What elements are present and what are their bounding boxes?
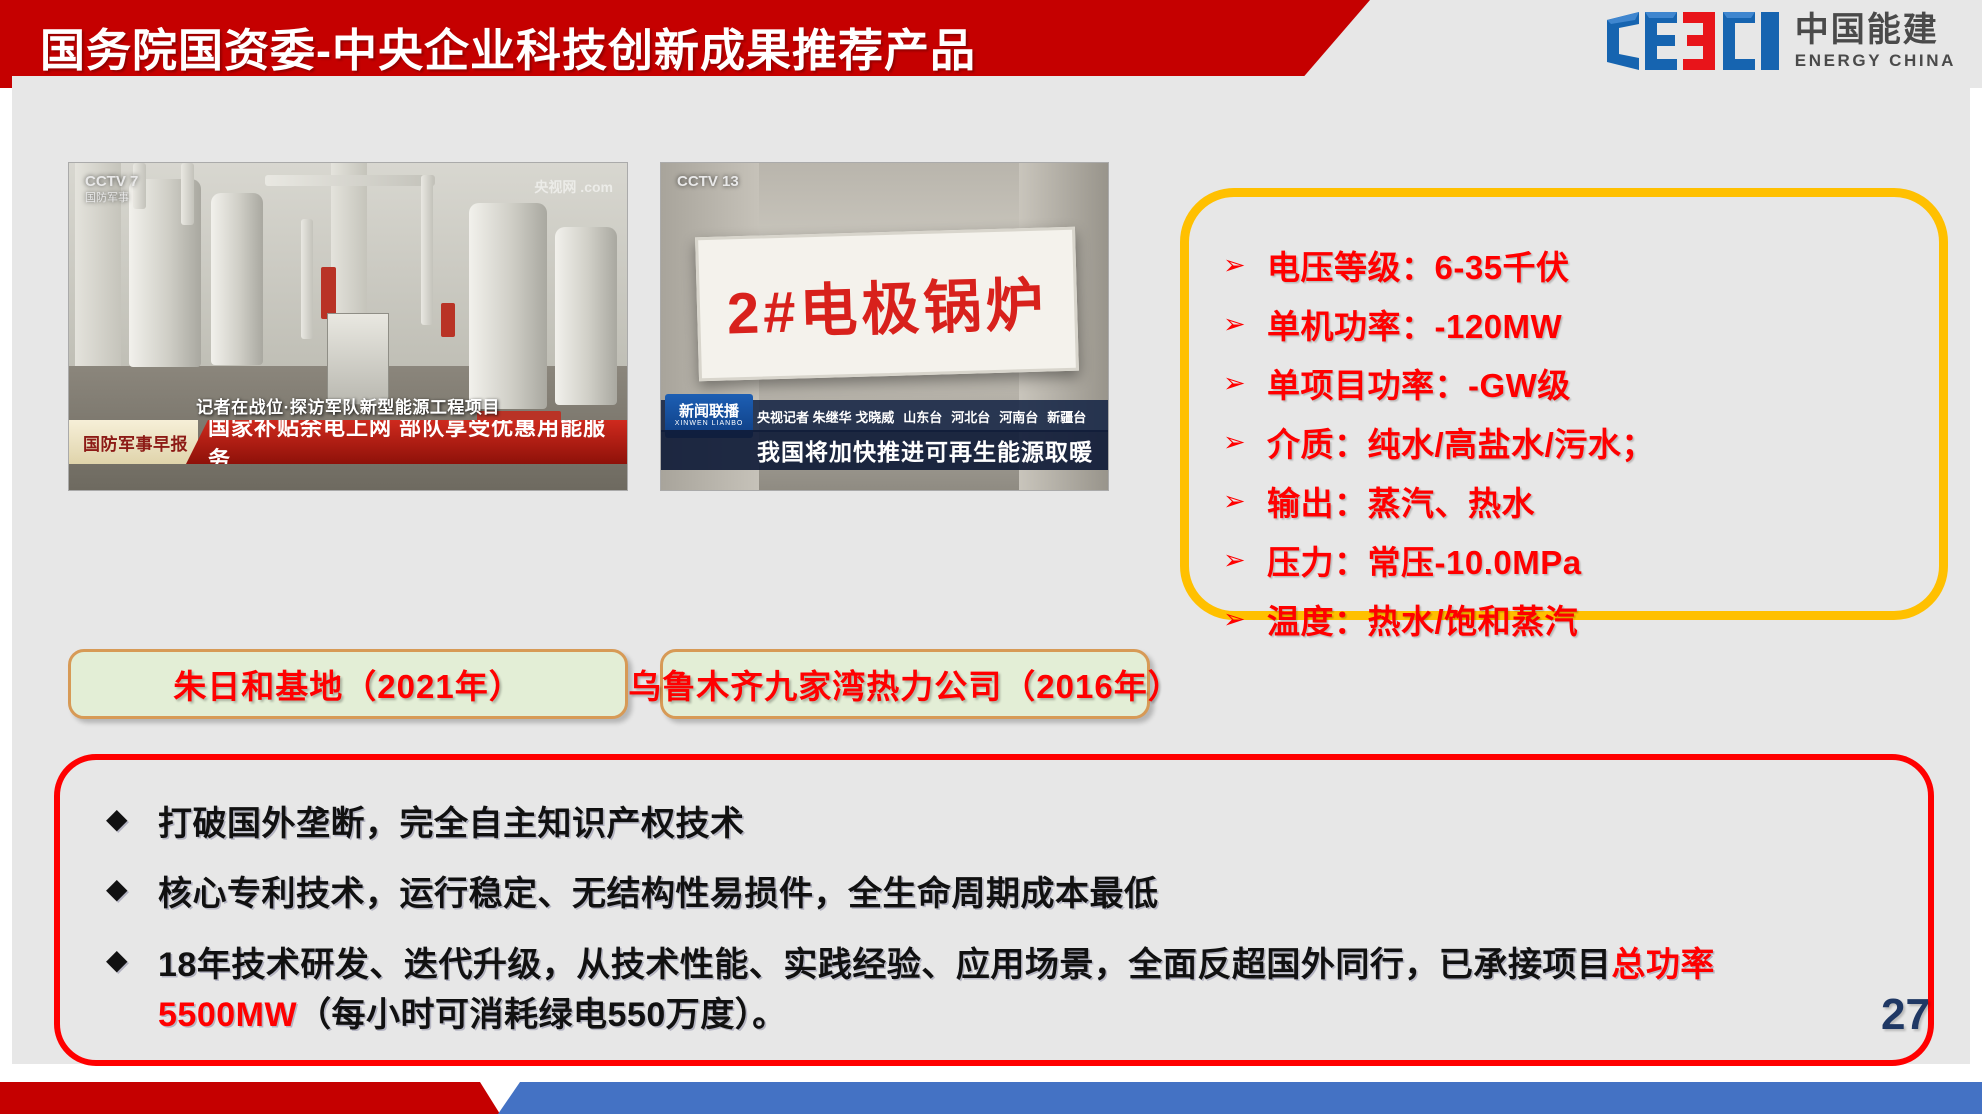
spec-item-temperature: ➢ 温度：热水/饱和蒸汽 bbox=[1223, 595, 1939, 643]
logo-text-block: 中国能建 ENERGY CHINA bbox=[1795, 13, 1956, 69]
photo1-pipe-3 bbox=[421, 175, 433, 325]
caption-text-2: 乌鲁木齐九家湾热力公司（2016年） bbox=[628, 660, 1181, 708]
photo1-tank-c bbox=[469, 203, 547, 409]
photo1-pipe-horizontal bbox=[265, 175, 435, 186]
spec-text-temperature: 温度：热水/饱和蒸汽 bbox=[1267, 595, 1578, 643]
spec-item-project-power: ➢ 单项目功率：-GW级 bbox=[1223, 359, 1939, 407]
bullet-text-2: 核心专利技术，运行稳定、无结构性易损件，全生命周期成本最低 bbox=[158, 870, 1159, 918]
bullet-1-plain: 打破国外垄断，完全自主知识产权技术 bbox=[158, 805, 745, 843]
footer-blue-segment bbox=[498, 1082, 1982, 1114]
slide-header: 国务院国资委-中央企业科技创新成果推荐产品 中国能建 ENERGY CHINA bbox=[0, 0, 1982, 88]
photo1-valve-b bbox=[441, 303, 455, 337]
company-logo: 中国能建 ENERGY CHINA bbox=[1605, 10, 1956, 72]
photo2-credit-1: 山东台 bbox=[903, 407, 942, 426]
diamond-bullet-icon: ◆ bbox=[106, 941, 158, 979]
photo2-credit-3: 河南台 bbox=[999, 407, 1038, 426]
caption-text-1: 朱日和基地（2021年） bbox=[173, 660, 522, 708]
spec-item-pressure: ➢ 压力：常压-10.0MPa bbox=[1223, 536, 1939, 584]
diamond-bullet-icon: ◆ bbox=[106, 800, 158, 838]
spec-item-voltage: ➢ 电压等级：6-35千伏 bbox=[1223, 241, 1939, 289]
logo-english-name: ENERGY CHINA bbox=[1795, 52, 1956, 69]
bullet-3-line2-plain: （每小时可消耗绿电550万度）。 bbox=[297, 996, 787, 1034]
slide: 国务院国资委-中央企业科技创新成果推荐产品 中国能建 ENERGY CHINA bbox=[0, 0, 1982, 1114]
bullet-text-3: 18年技术研发、迭代升级，从技术性能、实践经验、应用场景，全面反超国外同行，已承… bbox=[158, 941, 1715, 1040]
photo1-control-cabinet bbox=[327, 313, 389, 405]
bullet-3-plain: 18年技术研发、迭代升级，从技术性能、实践经验、应用场景，全面反超国外同行，已承… bbox=[158, 946, 1611, 984]
photo2-sign-text: 2#电极锅炉 bbox=[725, 257, 1048, 350]
photo1-program-tag: 国防军事早报 bbox=[69, 420, 198, 464]
page-number: 27 bbox=[1881, 990, 1930, 1040]
photo-cctv13-electrode-boiler: 2#电极锅炉 CCTV 13 央视记者 朱继华 戈晓威 山东台 河北台 河南台 … bbox=[660, 162, 1109, 491]
photo2-station-name-en: XINWEN LIANBO bbox=[675, 420, 744, 427]
spec-text-pressure: 压力：常压-10.0MPa bbox=[1267, 536, 1582, 584]
photo2-station-name: 新闻联播 bbox=[679, 404, 739, 420]
arrow-bullet-icon: ➢ bbox=[1223, 547, 1267, 574]
bullet-2-plain: 核心专利技术，运行稳定、无结构性易损件，全生命周期成本最低 bbox=[158, 875, 1159, 913]
key-points-box: ◆ 打破国外垄断，完全自主知识产权技术 ◆ 核心专利技术，运行稳定、无结构性易损… bbox=[54, 754, 1934, 1066]
spec-item-output: ➢ 输出：蒸汽、热水 bbox=[1223, 477, 1939, 525]
photo1-pipe-4 bbox=[301, 219, 313, 339]
cctv7-channel-sub: 国防军事 bbox=[85, 192, 138, 206]
bullet-3-highlight-2: 5500MW bbox=[158, 996, 297, 1034]
photo1-valve-a bbox=[321, 267, 336, 319]
cctv7-channel-logo: CCTV 7 国防军事 bbox=[85, 173, 138, 206]
arrow-bullet-icon: ➢ bbox=[1223, 606, 1267, 633]
caption-box-zhurihe: 朱日和基地（2021年） bbox=[68, 649, 628, 719]
bullet-point-1: ◆ 打破国外垄断，完全自主知识产权技术 bbox=[106, 800, 1882, 848]
arrow-bullet-icon: ➢ bbox=[1223, 252, 1267, 279]
footer-red-segment bbox=[0, 1082, 500, 1114]
arrow-bullet-icon: ➢ bbox=[1223, 429, 1267, 456]
bullet-point-3: ◆ 18年技术研发、迭代升级，从技术性能、实践经验、应用场景，全面反超国外同行，… bbox=[106, 941, 1882, 1040]
page-title: 国务院国资委-中央企业科技创新成果推荐产品 bbox=[40, 14, 976, 79]
photo2-credit-4: 新疆台 bbox=[1047, 407, 1086, 426]
photo1-pipe-2 bbox=[181, 163, 194, 225]
arrow-bullet-icon: ➢ bbox=[1223, 488, 1267, 515]
bullet-point-2: ◆ 核心专利技术，运行稳定、无结构性易损件，全生命周期成本最低 bbox=[106, 870, 1882, 918]
photo1-headline: 国家补贴余电上网 部队享受优惠用能服务 bbox=[186, 420, 627, 464]
cctv7-channel-name: CCTV 7 bbox=[85, 173, 138, 190]
cctv13-channel-logo: CCTV 13 bbox=[677, 173, 739, 192]
arrow-bullet-icon: ➢ bbox=[1223, 370, 1267, 397]
specifications-box: ➢ 电压等级：6-35千伏 ➢ 单机功率：-120MW ➢ 单项目功率：-GW级… bbox=[1180, 188, 1948, 620]
photo1-watermark: 央视网 .com bbox=[534, 177, 613, 197]
photo2-headline: 我国将加快推进可再生能源取暖 bbox=[661, 430, 1108, 470]
spec-item-medium: ➢ 介质：纯水/高盐水/污水； bbox=[1223, 418, 1939, 466]
photo2-credit-2: 河北台 bbox=[951, 407, 990, 426]
spec-text-medium: 介质：纯水/高盐水/污水； bbox=[1267, 418, 1655, 466]
photo1-lowerthird: 国防军事早报 国家补贴余电上网 部队享受优惠用能服务 bbox=[69, 420, 627, 464]
caption-box-urumqi: 乌鲁木齐九家湾热力公司（2016年） bbox=[660, 649, 1150, 719]
spec-text-voltage: 电压等级：6-35千伏 bbox=[1267, 241, 1570, 289]
spec-text-unit-power: 单机功率：-120MW bbox=[1267, 300, 1562, 348]
slide-footer bbox=[0, 1082, 1982, 1114]
diamond-bullet-icon: ◆ bbox=[106, 870, 158, 908]
cec-logo-icon bbox=[1605, 10, 1781, 72]
logo-chinese-name: 中国能建 bbox=[1795, 13, 1956, 47]
spec-text-output: 输出：蒸汽、热水 bbox=[1267, 477, 1535, 525]
spec-text-project-power: 单项目功率：-GW级 bbox=[1267, 359, 1571, 407]
photo1-tank-b bbox=[211, 193, 263, 365]
bullet-3-highlight-1: 总功率 bbox=[1611, 946, 1715, 984]
bullet-3-line2: 5500MW（每小时可消耗绿电550万度）。 bbox=[158, 991, 1715, 1039]
arrow-bullet-icon: ➢ bbox=[1223, 311, 1267, 338]
photo-cctv7-boiler-room: CCTV 7 国防军事 央视网 .com 记者在战位·探访军队新型能源工程项目 … bbox=[68, 162, 628, 491]
bullet-text-1: 打破国外垄断，完全自主知识产权技术 bbox=[158, 800, 745, 848]
spec-item-unit-power: ➢ 单机功率：-120MW bbox=[1223, 300, 1939, 348]
photo1-tank-d bbox=[555, 227, 617, 405]
photo1-topline: 记者在战位·探访军队新型能源工程项目 bbox=[69, 393, 627, 418]
slide-body: CCTV 7 国防军事 央视网 .com 记者在战位·探访军队新型能源工程项目 … bbox=[12, 76, 1970, 1064]
photo2-boiler-sign: 2#电极锅炉 bbox=[695, 226, 1079, 380]
photo2-credit-0: 央视记者 朱继华 戈晓威 bbox=[757, 407, 894, 426]
